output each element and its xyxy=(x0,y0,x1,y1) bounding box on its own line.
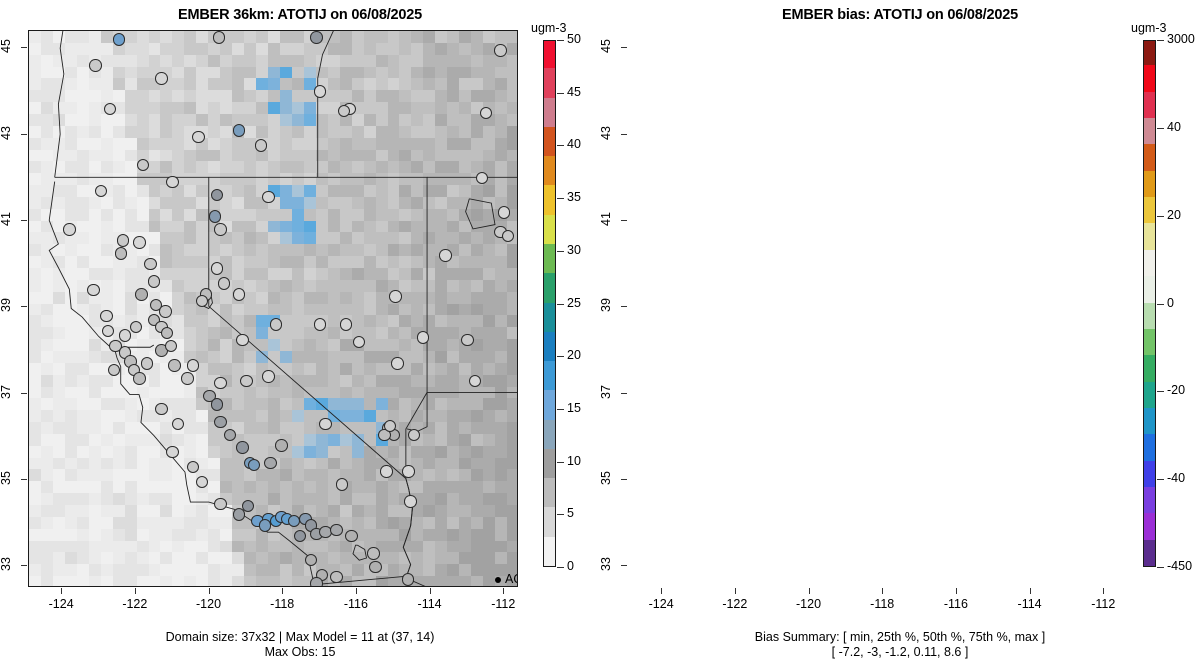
x-tick xyxy=(430,588,431,594)
station-marker[interactable] xyxy=(89,59,101,71)
station-marker[interactable] xyxy=(166,446,178,458)
colorbar-segment xyxy=(1144,222,1155,250)
colorbar-segment xyxy=(544,154,555,185)
x-tick-label: -120 xyxy=(786,597,832,611)
station-marker[interactable] xyxy=(319,418,331,430)
colorbar-tick xyxy=(1157,479,1164,480)
x-tick-label: -122 xyxy=(112,597,158,611)
colorbar-segment xyxy=(544,535,555,566)
x-tick xyxy=(135,588,136,594)
station-marker[interactable] xyxy=(248,459,260,471)
colorbar-tick xyxy=(1157,391,1164,392)
colorbar-segment xyxy=(1144,116,1155,144)
panel-model-title: EMBER 36km: ATOTIJ on 06/08/2025 xyxy=(0,7,600,23)
y-tick-label: 37 xyxy=(599,377,613,407)
colorbar-segment xyxy=(544,213,555,244)
colorbar-segment xyxy=(1144,275,1155,303)
station-marker[interactable] xyxy=(213,31,225,43)
colorbar-segment xyxy=(1144,380,1155,408)
x-tick-label: -122 xyxy=(712,597,758,611)
bias-caption-line1: Bias Summary: [ min, 25th %, 50th %, 75t… xyxy=(600,630,1200,645)
y-tick-label: 37 xyxy=(0,377,13,407)
colorbar-segment xyxy=(1144,40,1155,65)
station-marker[interactable] xyxy=(240,375,252,387)
colorbar-tick-label: 15 xyxy=(567,401,581,415)
y-tick-label: 41 xyxy=(0,204,13,234)
station-marker[interactable] xyxy=(255,139,267,151)
colorbar-tick xyxy=(557,198,564,199)
model-caption-line1: Domain size: 37x32 | Max Model = 11 at (… xyxy=(0,630,600,645)
colorbar-tick-label: -20 xyxy=(1167,383,1185,397)
x-tick xyxy=(1030,588,1031,594)
station-marker[interactable] xyxy=(117,234,129,246)
colorbar-tick-label: -40 xyxy=(1167,471,1185,485)
station-marker[interactable] xyxy=(389,290,401,302)
colorbar-tick xyxy=(557,567,564,568)
model-caption-line2: Max Obs: 15 xyxy=(0,645,600,660)
colorbar-tick xyxy=(557,304,564,305)
colorbar-segment xyxy=(544,184,555,215)
station-marker[interactable] xyxy=(166,176,178,188)
y-tick xyxy=(621,479,627,480)
colorbar-segment xyxy=(1144,248,1155,276)
colorbar-tick xyxy=(1157,128,1164,129)
y-tick xyxy=(621,47,627,48)
map-boundary-line xyxy=(403,478,413,576)
colorbar-segment xyxy=(544,301,555,332)
map-boundary-line xyxy=(318,31,338,177)
colorbar-tick xyxy=(1157,216,1164,217)
station-marker[interactable] xyxy=(233,288,245,300)
colorbar-segment xyxy=(1144,459,1155,487)
station-marker[interactable] xyxy=(236,334,248,346)
colorbar-segment xyxy=(544,389,555,420)
y-tick xyxy=(21,479,27,480)
station-marker[interactable] xyxy=(104,103,116,115)
colorbar-segment xyxy=(544,330,555,361)
colorbar-tick-label: 0 xyxy=(567,559,574,573)
y-tick xyxy=(621,306,627,307)
y-tick-label: 39 xyxy=(0,290,13,320)
station-marker[interactable] xyxy=(95,185,107,197)
station-marker[interactable] xyxy=(135,288,147,300)
colorbar-tick xyxy=(557,462,564,463)
colorbar-segment xyxy=(1144,64,1155,92)
station-marker[interactable] xyxy=(469,375,481,387)
station-marker[interactable] xyxy=(402,465,414,477)
x-tick xyxy=(735,588,736,594)
station-marker[interactable] xyxy=(461,334,473,346)
station-marker[interactable] xyxy=(330,524,342,536)
colorbar-tick-label: 20 xyxy=(567,348,581,362)
station-marker[interactable] xyxy=(340,318,352,330)
x-tick-label: -116 xyxy=(333,597,379,611)
colorbar-segment xyxy=(1144,301,1155,329)
x-tick xyxy=(956,588,957,594)
y-tick-label: 35 xyxy=(0,463,13,493)
x-tick-label: -114 xyxy=(1007,597,1053,611)
colorbar-segment xyxy=(544,96,555,127)
x-tick-label: -124 xyxy=(638,597,684,611)
colorbar-tick xyxy=(1157,304,1164,305)
colorbar-unit-label: ugm-3 xyxy=(1131,21,1166,35)
colorbar-tick-label: -450 xyxy=(1167,559,1192,573)
station-marker[interactable] xyxy=(270,318,282,330)
station-marker[interactable] xyxy=(130,321,142,333)
station-marker[interactable] xyxy=(236,441,248,453)
station-marker[interactable] xyxy=(408,429,420,441)
station-marker[interactable] xyxy=(233,124,245,136)
colorbar-tick xyxy=(557,409,564,410)
y-tick xyxy=(21,134,27,135)
aqs-legend-label: AQS xyxy=(505,572,518,586)
station-marker[interactable] xyxy=(380,465,392,477)
model-caption: Domain size: 37x32 | Max Model = 11 at (… xyxy=(0,630,600,660)
y-tick-label: 43 xyxy=(599,118,613,148)
colorbar-tick xyxy=(1157,567,1164,568)
colorbar-segment xyxy=(1144,406,1155,434)
colorbar-gradient xyxy=(1143,40,1156,567)
station-marker[interactable] xyxy=(209,210,221,222)
colorbar-tick-label: 40 xyxy=(567,137,581,151)
colorbar-segment xyxy=(1144,485,1155,513)
colorbar-segment xyxy=(1144,354,1155,382)
colorbar-segment xyxy=(1144,169,1155,197)
y-tick xyxy=(621,220,627,221)
colorbar-segment xyxy=(1144,90,1155,118)
colorbar-tick-label: 10 xyxy=(567,454,581,468)
station-marker[interactable] xyxy=(63,223,75,235)
x-tick-label: -124 xyxy=(38,597,84,611)
x-tick xyxy=(1103,588,1104,594)
model-map-plot[interactable]: AQS xyxy=(28,30,518,587)
map-boundary-line xyxy=(314,577,517,586)
colorbar-segment xyxy=(544,476,555,507)
station-marker[interactable] xyxy=(133,236,145,248)
station-marker[interactable] xyxy=(119,329,131,341)
station-marker[interactable] xyxy=(264,457,276,469)
colorbar-segment xyxy=(544,242,555,273)
station-marker[interactable] xyxy=(155,72,167,84)
colorbar-unit-label: ugm-3 xyxy=(531,21,566,35)
colorbar-tick-label: 45 xyxy=(567,85,581,99)
station-marker[interactable] xyxy=(224,429,236,441)
x-tick xyxy=(282,588,283,594)
station-marker[interactable] xyxy=(187,359,199,371)
station-marker[interactable] xyxy=(498,206,510,218)
station-marker[interactable] xyxy=(369,561,381,573)
map-boundary-line xyxy=(403,478,412,575)
colorbar-tick xyxy=(557,514,564,515)
panel-bias-title: EMBER bias: ATOTIJ on 06/08/2025 xyxy=(600,7,1200,23)
colorbar-gradient xyxy=(543,40,556,567)
station-marker[interactable] xyxy=(192,131,204,143)
station-marker[interactable] xyxy=(310,31,322,43)
x-tick xyxy=(661,588,662,594)
x-tick-label: -112 xyxy=(1080,597,1126,611)
colorbar-segment xyxy=(1144,538,1155,566)
station-marker[interactable] xyxy=(494,44,506,56)
station-marker[interactable] xyxy=(259,519,271,531)
colorbar-tick xyxy=(557,251,564,252)
station-marker[interactable] xyxy=(141,357,153,369)
colorbar-segment xyxy=(1144,433,1155,461)
colorbar-tick-label: 5 xyxy=(567,506,574,520)
station-marker[interactable] xyxy=(144,258,156,270)
y-tick xyxy=(21,393,27,394)
x-tick xyxy=(61,588,62,594)
station-marker[interactable] xyxy=(391,357,403,369)
colorbar-segment xyxy=(1144,512,1155,540)
y-tick xyxy=(621,134,627,135)
y-tick xyxy=(21,220,27,221)
station-marker[interactable] xyxy=(367,547,379,559)
model-map-boundaries xyxy=(29,31,517,586)
panel-bias: EMBER bias: ATOTIJ on 06/08/2025 AQS -12… xyxy=(600,0,1200,672)
station-marker[interactable] xyxy=(314,318,326,330)
y-tick xyxy=(621,565,627,566)
station-marker[interactable] xyxy=(214,377,226,389)
y-tick-label: 45 xyxy=(599,31,613,61)
bias-caption: Bias Summary: [ min, 25th %, 50th %, 75t… xyxy=(600,630,1200,660)
map-boundary-line xyxy=(353,545,367,560)
station-marker[interactable] xyxy=(262,370,274,382)
station-marker[interactable] xyxy=(115,247,127,259)
y-tick-label: 41 xyxy=(599,204,613,234)
station-marker[interactable] xyxy=(214,223,226,235)
colorbar-tick xyxy=(557,93,564,94)
colorbar-segment xyxy=(1144,327,1155,355)
y-tick-label: 33 xyxy=(599,549,613,579)
y-tick-label: 33 xyxy=(0,549,13,579)
colorbar-tick-label: 3000 xyxy=(1167,32,1195,46)
station-marker[interactable] xyxy=(148,275,160,287)
x-tick-label: -118 xyxy=(859,597,905,611)
colorbar-tick-label: 50 xyxy=(567,32,581,46)
colorbar-tick-label: 25 xyxy=(567,296,581,310)
station-marker[interactable] xyxy=(345,530,357,542)
station-marker[interactable] xyxy=(275,439,287,451)
colorbar-tick xyxy=(557,356,564,357)
y-tick-label: 45 xyxy=(0,31,13,61)
station-marker[interactable] xyxy=(100,310,112,322)
colorbar-segment xyxy=(544,418,555,449)
map-boundary-line xyxy=(466,199,495,229)
x-tick-label: -116 xyxy=(933,597,979,611)
station-marker[interactable] xyxy=(181,372,193,384)
x-tick-label: -114 xyxy=(407,597,453,611)
y-tick xyxy=(21,47,27,48)
colorbar-tick-label: 30 xyxy=(567,243,581,257)
station-marker[interactable] xyxy=(133,372,145,384)
station-marker[interactable] xyxy=(87,284,99,296)
station-marker[interactable] xyxy=(214,416,226,428)
x-tick-label: -120 xyxy=(186,597,232,611)
colorbar-segment xyxy=(544,506,555,537)
colorbar-segment xyxy=(544,40,555,68)
station-marker[interactable] xyxy=(353,336,365,348)
station-marker[interactable] xyxy=(305,554,317,566)
y-tick-label: 39 xyxy=(599,290,613,320)
map-boundary-line xyxy=(55,31,66,177)
x-tick xyxy=(809,588,810,594)
colorbar-tick-label: 0 xyxy=(1167,296,1174,310)
station-marker[interactable] xyxy=(108,364,120,376)
y-tick xyxy=(21,565,27,566)
colorbar-segment xyxy=(544,359,555,390)
x-tick-label: -118 xyxy=(259,597,305,611)
colorbar-segment xyxy=(1144,143,1155,171)
colorbar-tick-label: 20 xyxy=(1167,208,1181,222)
y-tick xyxy=(621,393,627,394)
colorbar-segment xyxy=(544,67,555,98)
station-marker[interactable] xyxy=(159,305,171,317)
x-tick xyxy=(356,588,357,594)
station-marker[interactable] xyxy=(314,85,326,97)
station-marker[interactable] xyxy=(439,249,451,261)
station-marker[interactable] xyxy=(336,478,348,490)
colorbar-tick-label: 35 xyxy=(567,190,581,204)
y-tick-label: 43 xyxy=(0,118,13,148)
colorbar-segment xyxy=(544,272,555,303)
station-marker[interactable] xyxy=(310,577,322,587)
bias-caption-line2: [ -7.2, -3, -1.2, 0.11, 8.6 ] xyxy=(600,645,1200,660)
aqs-legend-dot xyxy=(495,577,501,583)
colorbar-tick xyxy=(557,40,564,41)
station-marker[interactable] xyxy=(417,331,429,343)
colorbar-tick xyxy=(557,145,564,146)
colorbar-tick xyxy=(1157,40,1164,41)
station-marker[interactable] xyxy=(404,495,416,507)
x-tick xyxy=(209,588,210,594)
colorbar-segment xyxy=(544,125,555,156)
y-tick-label: 35 xyxy=(599,463,613,493)
station-marker[interactable] xyxy=(214,498,226,510)
station-marker[interactable] xyxy=(211,398,223,410)
colorbar-segment xyxy=(544,447,555,478)
station-marker[interactable] xyxy=(402,573,414,585)
station-marker[interactable] xyxy=(168,359,180,371)
y-tick xyxy=(21,306,27,307)
x-tick xyxy=(503,588,504,594)
station-marker[interactable] xyxy=(211,262,223,274)
colorbar-tick-label: 40 xyxy=(1167,120,1181,134)
station-marker[interactable] xyxy=(155,403,167,415)
station-marker[interactable] xyxy=(262,191,274,203)
panel-model: EMBER 36km: ATOTIJ on 06/08/2025 AQS -12… xyxy=(0,0,600,672)
figure-root: EMBER 36km: ATOTIJ on 06/08/2025 AQS -12… xyxy=(0,0,1200,672)
x-tick-label: -112 xyxy=(480,597,526,611)
x-tick xyxy=(882,588,883,594)
colorbar-segment xyxy=(1144,195,1155,223)
